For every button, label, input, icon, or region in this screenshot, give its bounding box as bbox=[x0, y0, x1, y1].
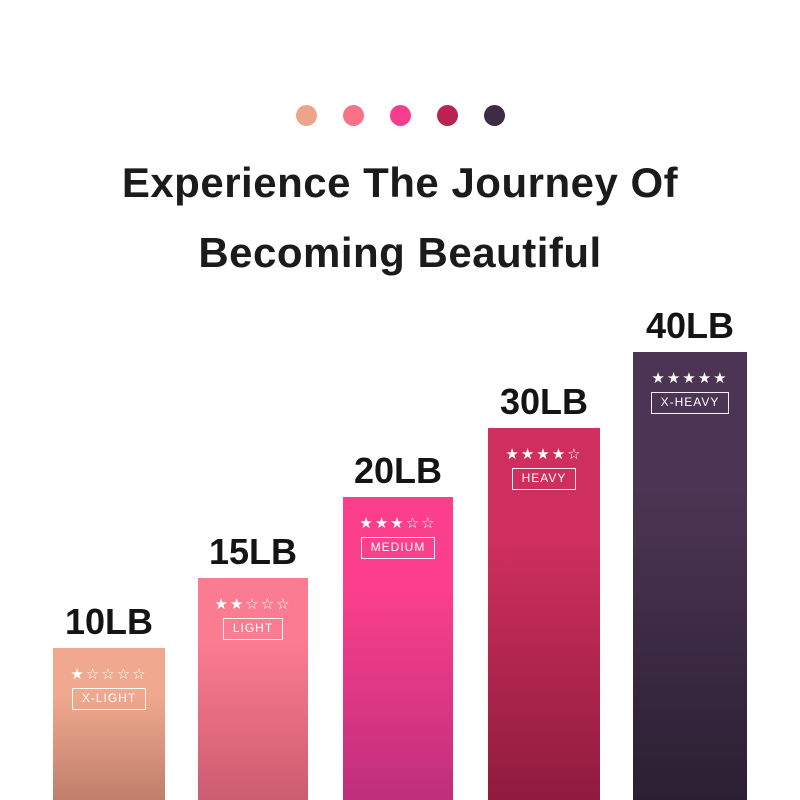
bar-badge: ★★★★☆HEAVY bbox=[488, 446, 600, 490]
bar-group-x-light[interactable]: 10LB★☆☆☆☆X-LIGHT bbox=[53, 648, 165, 800]
star-rating-icon: ★★★★☆ bbox=[488, 446, 600, 463]
bar-group-medium[interactable]: 20LB★★★☆☆MEDIUM bbox=[343, 497, 453, 800]
star-rating-icon: ★★★★★ bbox=[633, 370, 747, 387]
bar-weight-label: 15LB bbox=[209, 532, 297, 572]
bar-group-heavy[interactable]: 30LB★★★★☆HEAVY bbox=[488, 428, 600, 800]
bar-group-x-heavy[interactable]: 40LB★★★★★X-HEAVY bbox=[633, 352, 747, 800]
bar-badge: ★★★☆☆MEDIUM bbox=[343, 515, 453, 559]
bar-fill: ★★☆☆☆LIGHT bbox=[198, 578, 308, 800]
star-rating-icon: ★☆☆☆☆ bbox=[53, 666, 165, 683]
bar-fill: ★★★★☆HEAVY bbox=[488, 428, 600, 800]
resistance-level-badge: LIGHT bbox=[223, 618, 283, 640]
resistance-band-bar-chart: 10LB★☆☆☆☆X-LIGHT15LB★★☆☆☆LIGHT20LB★★★☆☆M… bbox=[0, 0, 800, 800]
star-rating-icon: ★★☆☆☆ bbox=[198, 596, 308, 613]
bar-badge: ★★★★★X-HEAVY bbox=[633, 370, 747, 414]
bar-badge: ★★☆☆☆LIGHT bbox=[198, 596, 308, 640]
bar-fill: ★★★☆☆MEDIUM bbox=[343, 497, 453, 800]
bar-weight-label: 40LB bbox=[646, 306, 734, 346]
bar-weight-label: 20LB bbox=[354, 451, 442, 491]
bar-fill: ★☆☆☆☆X-LIGHT bbox=[53, 648, 165, 800]
bar-weight-label: 10LB bbox=[65, 602, 153, 642]
resistance-level-badge: MEDIUM bbox=[361, 537, 436, 559]
bar-fill: ★★★★★X-HEAVY bbox=[633, 352, 747, 800]
resistance-level-badge: HEAVY bbox=[512, 468, 577, 490]
bar-badge: ★☆☆☆☆X-LIGHT bbox=[53, 666, 165, 710]
product-poster: Experience The Journey OfBecoming Beauti… bbox=[0, 0, 800, 800]
bar-group-light[interactable]: 15LB★★☆☆☆LIGHT bbox=[198, 578, 308, 800]
star-rating-icon: ★★★☆☆ bbox=[343, 515, 453, 532]
bar-weight-label: 30LB bbox=[500, 382, 588, 422]
resistance-level-badge: X-HEAVY bbox=[651, 392, 730, 414]
resistance-level-badge: X-LIGHT bbox=[72, 688, 146, 710]
